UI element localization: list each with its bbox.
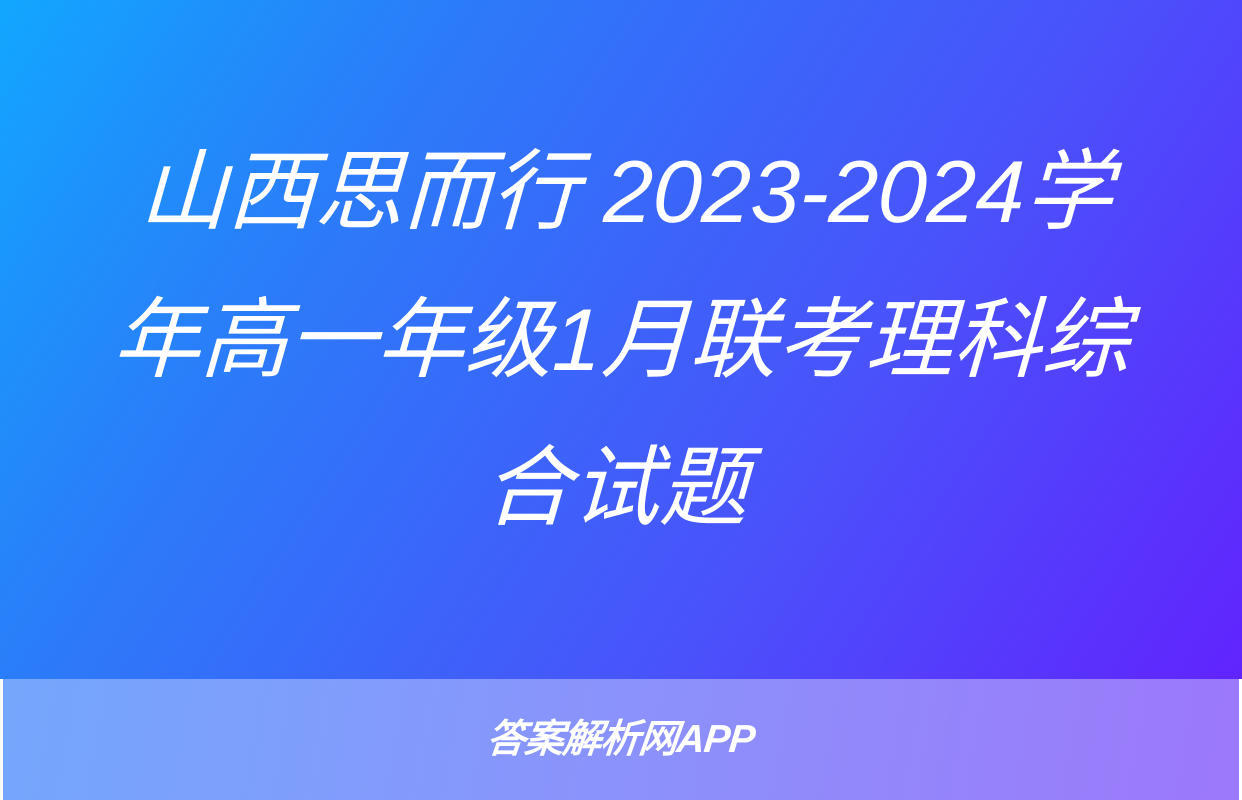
hero-gradient-panel: 山西思而行 2023-2024学年高一年级1月联考理科综合试题 [0,0,1242,679]
watermark-band: 答案解析网APP [3,679,1239,800]
title-card: 山西思而行 2023-2024学年高一年级1月联考理科综合试题 答案解析网APP [0,0,1242,800]
page-title: 山西思而行 2023-2024学年高一年级1月联考理科综合试题 [92,118,1150,562]
watermark-label: 答案解析网APP [485,720,756,759]
